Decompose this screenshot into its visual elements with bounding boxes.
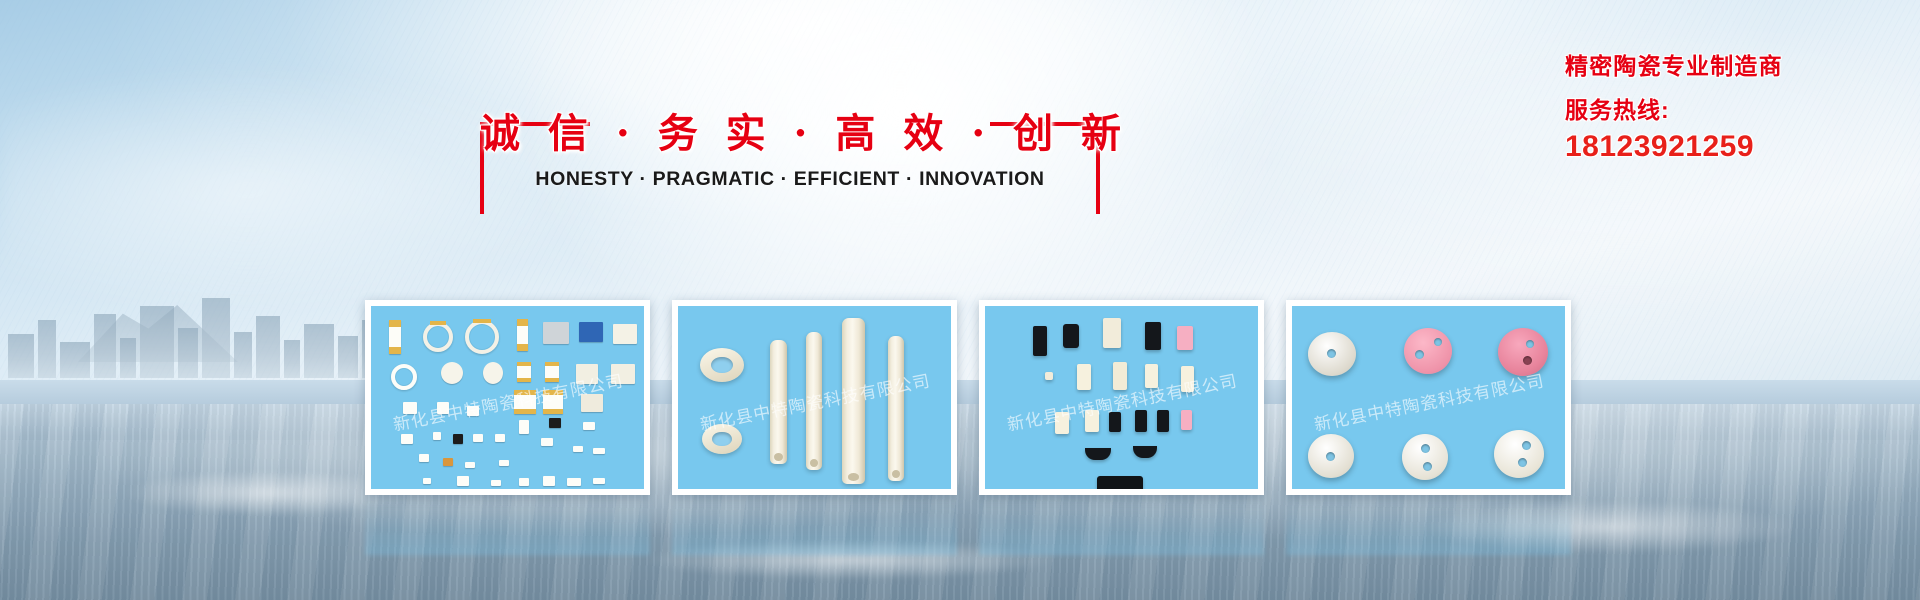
product-panel-row: 新化县中特陶瓷科技有限公司 新化县中特陶瓷科技有限公司	[0, 0, 1920, 600]
panel-image-rods-rings: 新化县中特陶瓷科技有限公司	[678, 306, 951, 489]
panel-watermark: 新化县中特陶瓷科技有限公司	[1311, 367, 1545, 436]
product-panel-blocks[interactable]: 新化县中特陶瓷科技有限公司	[979, 300, 1264, 495]
product-panel-discs[interactable]: 新化县中特陶瓷科技有限公司	[1286, 300, 1571, 495]
panel-image-discs: 新化县中特陶瓷科技有限公司	[1292, 306, 1565, 489]
product-panel-smd-chips[interactable]: 新化县中特陶瓷科技有限公司	[365, 300, 650, 495]
product-panel-rods-rings[interactable]: 新化县中特陶瓷科技有限公司	[672, 300, 957, 495]
panel-reflection	[979, 495, 1264, 555]
panel-reflection	[365, 495, 650, 555]
panel-reflection	[1286, 495, 1571, 555]
panel-image-smd-chips: 新化县中特陶瓷科技有限公司	[371, 306, 644, 489]
panel-reflection	[672, 495, 957, 555]
hero-banner: 诚 信 · 务 实 · 高 效 · 创 新 HONESTY · PRAGMATI…	[0, 0, 1920, 600]
panel-image-blocks: 新化县中特陶瓷科技有限公司	[985, 306, 1258, 489]
